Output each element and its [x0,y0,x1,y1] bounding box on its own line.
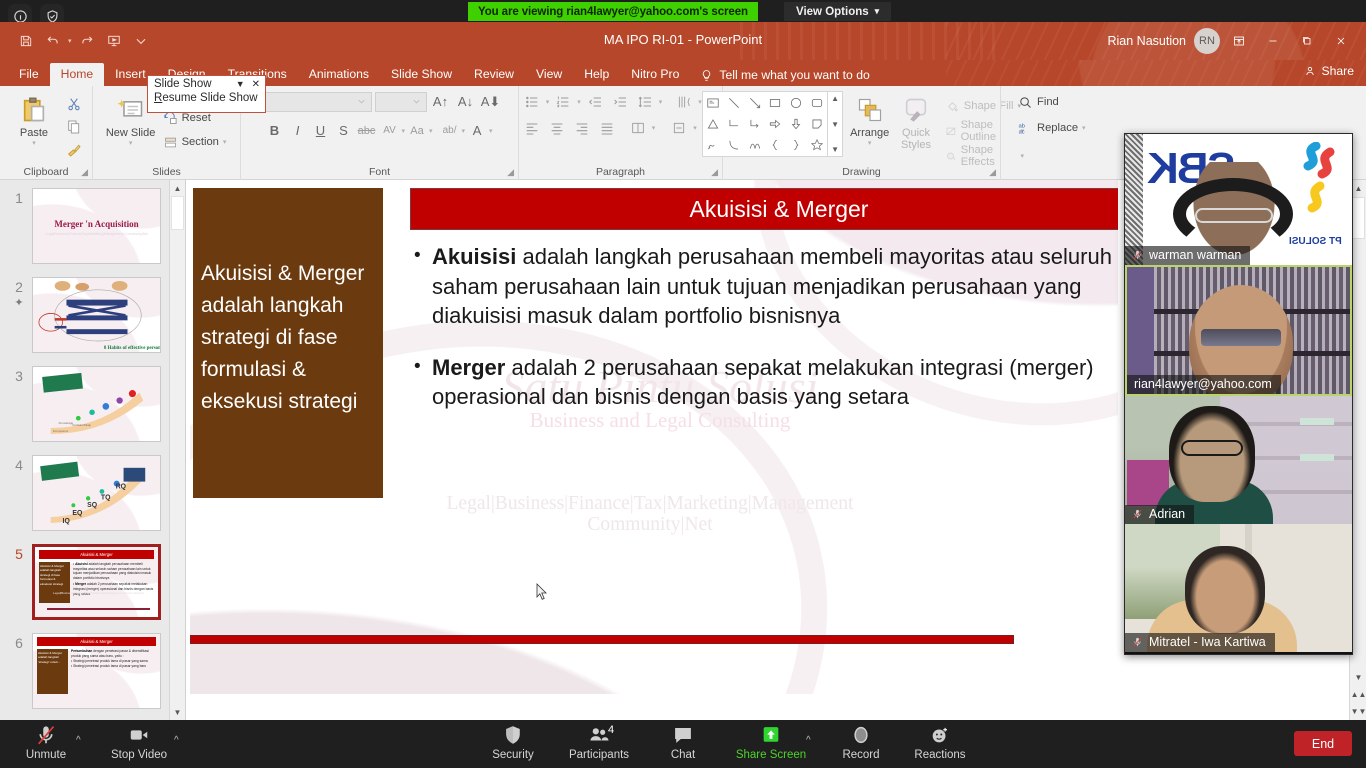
slide-footer-watermark-line1: Legal|Business|Finance|Tax|Marketing|Man… [250,493,1050,515]
shape-elbow-connector-icon[interactable] [724,113,745,134]
shape-rect-icon[interactable] [765,92,786,113]
new-slide-caret[interactable]: ▾ [129,139,133,147]
shape-triangle-icon[interactable] [703,113,724,134]
tell-me-box[interactable]: Tell me what you want to do [690,64,879,86]
section-button[interactable]: Section ▾ [160,131,230,153]
video-icon [128,723,150,747]
participants-count: 4 [608,724,614,736]
character-spacing-button[interactable]: AV [379,120,401,141]
scrollbar-bottom-group[interactable]: ▼ ▲▲ ▼▼ [1350,669,1366,720]
numbering-button[interactable] [552,91,574,113]
svg-text:8 Habits of effective person: 8 Habits of effective person [104,346,160,351]
increase-indent-button[interactable] [609,91,631,113]
cut-icon[interactable] [63,93,85,115]
powerpoint-title-bar: ▾ MA IPO RI-01 - PowerPoint Rian Nasutio… [0,22,1366,60]
mic-off-icon [1132,635,1143,649]
mic-off-icon [1132,248,1143,262]
group-label-slides: Slides [93,166,240,178]
thumb6-b2: Strategi penetrasi produk lama di pasar … [73,664,146,668]
paragraph-dialog-launcher[interactable]: ◢ [711,167,718,178]
scroll-down-icon[interactable]: ▼ [170,704,185,720]
ribbon-group-clipboard: Paste ▾ Clipboa [0,86,92,180]
character-spacing-caret[interactable]: ▾ [402,127,406,135]
thumb5-sidetext: Akuisisi & Merger adalah langkah strateg… [40,564,68,586]
mouse-cursor [536,583,548,601]
svg-text:Kompetensi: Kompetensi [53,429,69,433]
ribbon-tab-nitro-pro[interactable]: Nitro Pro [620,63,690,86]
chevron-down-icon [411,96,422,107]
ribbon-group-font: A↑ A↓ A⬇ B I U S abc AV ▾ Aa ▾ ab/ [240,86,518,180]
thumb1-subtitle: Legal|Business|Finance|Tax|Marketing|Man… [33,232,160,236]
ribbon-tab-home[interactable]: Home [50,63,105,86]
section-icon [163,135,178,150]
shape-effects-icon [945,149,957,164]
shapes-gallery[interactable] [702,91,828,157]
font-color-button[interactable]: A [466,120,488,141]
arrange-label: Arrange [850,127,889,139]
svg-text:IQ: IQ [63,518,71,525]
slide-body-bullets[interactable]: Akuisisi adalah langkah perusahaan membe… [410,242,1118,434]
change-case-caret[interactable]: ▾ [429,127,433,135]
thumbnail-row[interactable]: 6 Akuisisi & Merger Akuisisi & Merger ad… [0,633,185,709]
close-icon[interactable] [1326,28,1356,54]
video-tile-adrian[interactable]: Adrian [1125,396,1352,524]
ribbon-group-editing: Find abac Replace ▾ [1000,86,1110,180]
slide-show-popup-toolbar[interactable]: Slide Show ▼ ✕ Resume Slide Show [147,75,266,113]
shape-elbow-arrow-icon[interactable] [744,113,765,134]
shape-curve-icon[interactable] [724,135,745,156]
svg-text:ac: ac [1019,129,1025,135]
svg-text:RQ: RQ [116,483,127,490]
logo-subtext: PT SOLUSI [1289,236,1342,247]
columns-caret[interactable]: ▾ [652,124,656,132]
shape-down-arrow-icon[interactable] [786,113,807,134]
share-banner-text: You are viewing rian4lawyer@yahoo.com's … [478,6,748,18]
paste-icon [20,93,48,127]
justify-button[interactable] [596,117,618,139]
thumb5-b1-bold: Akuisisi [75,562,88,566]
slide-bullet-2-bold: Merger [432,355,505,380]
chat-button[interactable]: Chat [644,723,722,761]
ribbon-group-drawing: ▲ ▼ ▼ Arrange ▾ [722,86,1000,180]
thumb5-b2-bold: Merger [75,582,86,586]
security-label: Security [492,749,534,761]
unmute-label: Unmute [26,749,66,761]
slide-bullet-1-rest: adalah langkah perusahaan membeli mayori… [432,244,1112,328]
svg-text:Knowledge: Knowledge [59,421,74,425]
bullets-caret[interactable]: ▾ [546,98,550,106]
ribbon-tab-help[interactable]: Help [573,63,620,86]
bullets-button[interactable] [521,91,543,113]
group-label-font: Font [241,166,518,178]
reset-label: Reset [182,112,211,124]
underline-button[interactable]: U [310,120,332,141]
svg-text:SQ: SQ [87,502,98,509]
align-right-button[interactable] [571,117,593,139]
thumbnail-row[interactable]: 4 IQ EQ SQ [0,455,185,531]
next-slide-icon[interactable]: ▼▼ [1350,703,1366,720]
view-options-button[interactable]: View Options ▾ [784,2,891,21]
participants-icon [588,723,610,747]
thumbnail-number: 6 [6,633,32,651]
replace-caret[interactable]: ▾ [1082,124,1086,132]
find-label: Find [1037,96,1059,108]
align-left-button[interactable] [521,117,543,139]
slide-show-popup-title: Slide Show [154,78,212,90]
ribbon-tab-animations[interactable]: Animations [298,63,380,86]
slide-bullet-1: Akuisisi adalah langkah perusahaan membe… [410,242,1118,331]
shape-right-arrow-icon[interactable] [765,113,786,134]
tell-me-label: Tell me what you want to do [719,68,869,82]
view-options-label: View Options [796,6,869,18]
ribbon-tab-view[interactable]: View [525,63,573,86]
video-thumbnail-strip[interactable]: SBK PT SOLUSI warman warman [1124,133,1353,655]
ribbon-tab-review[interactable]: Review [463,63,525,86]
font-color-caret[interactable]: ▾ [489,127,493,135]
chat-label: Chat [671,749,695,761]
slide-footer-watermark-line2: Community|Net [250,514,1050,536]
slide-bullet-1-bold: Akuisisi [432,244,516,269]
account-name: Rian Nasution [1107,34,1186,48]
thumbnail-pane-scrollbar[interactable]: ▲ ▼ [169,180,185,720]
slide-side-text: Akuisisi & Merger adalah langkah strateg… [193,188,383,418]
slide-show-popup-close-icon[interactable]: ✕ [252,79,260,90]
participants-label: Participants [569,749,629,761]
slide-thumbnail-1[interactable]: Merger 'n Acquisition Legal|Business|Fin… [32,188,161,264]
slide-title-text: Akuisisi & Merger [690,196,869,223]
svg-text:TQ: TQ [101,494,111,501]
clipboard-dialog-launcher[interactable]: ◢ [81,167,88,178]
video-name-badge: Adrian [1125,505,1194,524]
strikethrough-button[interactable]: abc [356,120,378,141]
shape-line-icon[interactable] [724,92,745,113]
video-name-text: warman warman [1149,248,1241,262]
animation-star-icon: ✦ [6,295,32,311]
chevron-down-icon [356,96,367,107]
chevron-down-icon: ▾ [875,6,880,17]
drawing-dialog-launcher[interactable]: ◢ [989,167,996,178]
zoom-bottom-toolbar: Unmute ^ Stop Video ^ Security 4 Partici… [0,720,1366,768]
mic-off-icon [1132,507,1143,521]
italic-button[interactable]: I [287,120,309,141]
video-name-badge: Mitratel - Iwa Kartiwa [1125,633,1275,652]
thumb6-b1: Strategi penetrasi produk lama di pasar … [73,659,148,663]
shape-fill-icon [945,99,960,114]
paste-button[interactable]: Paste ▾ [7,91,61,147]
font-size-combo[interactable] [375,92,427,112]
slide-show-popup-dropdown-icon[interactable]: ▼ [236,79,245,89]
screen-share-banner: You are viewing rian4lawyer@yahoo.com's … [468,2,758,21]
scroll-up-icon[interactable]: ▲ [170,180,185,196]
increase-font-size-button[interactable]: A↑ [430,91,452,112]
svg-text:ab: ab [1019,123,1025,129]
new-slide-label: New Slide [106,127,156,139]
thumb2-diagram: 8 Habits of effective person [33,278,160,353]
thumb6-sidetext: Akuisisi & Merger adalah langkah 'strate… [38,651,66,664]
share-options-caret-icon[interactable]: ^ [806,735,811,746]
end-label: End [1312,737,1334,751]
resume-slide-show-item[interactable]: Resume Slide Show [148,91,265,105]
share-screen-label: Share Screen [736,749,806,761]
scroll-down-icon[interactable]: ▼ [831,120,839,129]
change-case-button[interactable]: Aa [406,120,428,141]
ribbon-group-paragraph: ▾ ▾ ▾ ▾ [518,86,722,180]
thumbnail-number: 3 [6,366,32,384]
thumbnail-row[interactable]: 3 Perilaku/Sikap Kompetensi [0,366,185,442]
ribbon-tab-slide-show[interactable]: Slide Show [380,63,463,86]
shape-outline-icon [945,124,957,139]
video-tile-rian4lawyer[interactable]: rian4lawyer@yahoo.com [1125,265,1352,396]
bold-button[interactable]: B [264,120,286,141]
columns-button[interactable] [627,117,649,139]
thumbnail-number: 4 [6,455,32,473]
thumbnail-row[interactable]: 5 Akuisisi & Merger Akuisisi & Merger ad… [0,544,185,620]
shape-scribble-icon[interactable] [703,135,724,156]
zoom-top-bar: You are viewing rian4lawyer@yahoo.com's … [0,0,1366,22]
video-name-badge: warman warman [1125,246,1250,265]
video-name-text: Adrian [1149,507,1185,521]
text-highlight-button[interactable]: ab/ [439,120,461,141]
paste-label: Paste [20,127,48,139]
thumb5-watermark: Legal|Business|Finance|Tax|Marketing|Man… [45,591,152,595]
line-spacing-caret[interactable]: ▾ [659,98,663,106]
shape-rounded-rect-icon[interactable] [806,92,827,113]
paste-dropdown-caret[interactable]: ▾ [32,139,36,147]
decrease-indent-button[interactable] [584,91,606,113]
shape-arc-icon[interactable] [744,135,765,156]
arrange-caret[interactable]: ▾ [868,139,872,147]
align-text-button[interactable] [668,117,690,139]
participants-button[interactable]: 4 Participants [560,723,638,761]
new-slide-icon [117,93,145,127]
record-label: Record [842,749,879,761]
slide-bullet-2: Merger adalah 2 perusahaan sepakat melak… [410,353,1118,412]
video-options-caret-icon[interactable]: ^ [174,735,179,746]
replace-button[interactable]: abac Replace ▾ [1015,117,1089,139]
title-bar-right: Rian Nasution RN [1107,28,1356,54]
more-shapes-icon[interactable]: ▼ [831,145,839,154]
group-label-paragraph: Paragraph [519,166,722,178]
text-shadow-button[interactable]: S [333,120,355,141]
scroll-down-icon[interactable]: ▼ [1350,669,1366,686]
thumbnail-number: 5 [6,544,32,562]
record-button[interactable]: Record [822,723,900,761]
replace-label: Replace [1037,122,1078,134]
arrange-icon [856,93,884,127]
font-dialog-launcher[interactable]: ◢ [507,167,514,178]
quick-styles-icon [902,93,930,127]
thumbnail-number-text: 2 [15,279,23,295]
record-icon [850,723,872,747]
share-screen-button[interactable]: Share Screen [732,723,810,761]
scrollbar-thumb[interactable] [171,196,184,230]
line-spacing-button[interactable] [634,91,656,113]
copy-icon[interactable] [63,116,85,138]
slide-thumbnail-4[interactable]: IQ EQ SQ TQ RQ [32,455,161,531]
scrollbar-thumb[interactable] [1351,197,1365,239]
thumb3-chart: Perilaku/Sikap Kompetensi Knowledge [33,367,160,442]
thumb6-title: Akuisisi & Merger [37,637,156,646]
stop-video-button[interactable]: Stop Video [100,723,178,761]
slide-thumbnail-5[interactable]: Akuisisi & Merger Akuisisi & Merger adal… [32,544,161,620]
format-painter-icon[interactable] [63,139,85,161]
video-tile-mitratel[interactable]: Mitratel - Iwa Kartiwa [1125,524,1352,652]
reactions-button[interactable]: Reactions [901,723,979,761]
search-icon [1018,95,1033,110]
security-button[interactable]: Security [474,723,552,761]
quick-styles-button[interactable]: Quick Styles [896,91,936,151]
thumb4-chart: IQ EQ SQ TQ RQ [33,456,160,531]
video-name-text: rian4lawyer@yahoo.com [1134,377,1272,391]
shape-flowchart-icon[interactable] [806,113,827,134]
slide-thumbnail-6[interactable]: Akuisisi & Merger Akuisisi & Merger adal… [32,633,161,709]
section-caret[interactable]: ▾ [223,138,227,146]
mic-off-icon [35,723,57,747]
video-name-text: Mitratel - Iwa Kartiwa [1149,635,1266,649]
slide-footer-rule [190,635,1014,644]
share-button[interactable]: Share [1304,64,1354,78]
clear-formatting-button[interactable]: A⬇ [480,91,502,112]
shield-icon [502,723,524,747]
stop-video-label: Stop Video [111,749,167,761]
thumbnail-number: 1 [6,188,32,206]
reactions-label: Reactions [914,749,965,761]
arrange-button[interactable]: Arrange ▾ [849,91,890,147]
thumbnail-row[interactable]: 1 Merger 'n Acquisition Legal|Business|F… [0,188,185,264]
thumb6-b0-bold: Pertumbuhan [71,649,92,653]
thumb5-title: Akuisisi & Merger [39,550,154,559]
svg-text:EQ: EQ [72,510,83,517]
resume-slide-show-label: esume Slide Show [162,92,257,104]
thumb1-title: Merger 'n Acquisition [33,219,160,229]
screen-root: You are viewing rian4lawyer@yahoo.com's … [0,0,1366,768]
video-name-badge: rian4lawyer@yahoo.com [1127,375,1281,394]
slide-side-panel[interactable]: Akuisisi & Merger adalah langkah strateg… [193,188,383,498]
text-direction-button[interactable] [673,91,695,113]
shape-arrow-icon[interactable] [744,92,765,113]
slide-bullet-2-rest: adalah 2 perusahaan sepakat melakukan in… [432,355,1094,410]
lightbulb-icon [700,69,713,82]
shape-star-icon[interactable] [806,135,827,156]
avatar[interactable]: RN [1194,28,1220,54]
ribbon-display-options-icon[interactable] [1224,28,1254,54]
minimize-icon[interactable] [1258,28,1288,54]
share-screen-icon [760,723,782,747]
highlight-caret[interactable]: ▾ [462,127,466,135]
slide-thumbnail-2[interactable]: 8 Habits of effective person [32,277,161,353]
current-slide[interactable]: Satu Pintu Solusi Business and Legal Con… [190,180,1118,694]
restore-icon[interactable] [1292,28,1322,54]
font-name-combo[interactable] [264,92,372,112]
replace-icon: abac [1018,121,1033,136]
group-label-clipboard: Clipboard [0,166,92,178]
svg-text:Perilaku/Sikap: Perilaku/Sikap [72,423,91,427]
align-center-button[interactable] [546,117,568,139]
person-icon [1304,65,1316,77]
decrease-font-size-button[interactable]: A↓ [455,91,477,112]
share-label: Share [1321,64,1354,78]
chat-icon [672,723,694,747]
unmute-button[interactable]: Unmute [7,723,85,761]
thumbnail-row[interactable]: 2 ✦ [0,277,185,353]
thumbnail-number: 2 ✦ [6,277,32,311]
reactions-icon [929,723,951,747]
audio-options-caret-icon[interactable]: ^ [76,735,81,746]
find-button[interactable]: Find [1015,91,1062,113]
previous-slide-icon[interactable]: ▲▲ [1350,686,1366,703]
video-tile-warman[interactable]: SBK PT SOLUSI warman warman [1125,134,1352,265]
shape-textbox-icon[interactable] [703,92,724,113]
shape-left-brace-icon[interactable] [765,135,786,156]
shape-oval-icon[interactable] [786,92,807,113]
shape-right-brace-icon[interactable] [786,135,807,156]
thumb5-footer-rule [47,608,150,611]
shapes-gallery-scrollbar[interactable]: ▲ ▼ ▼ [828,91,843,157]
slide-title-banner[interactable]: Akuisisi & Merger [410,188,1118,230]
thumb6-body: Pertumbuhan dengan penetrasi pasar & div… [71,649,156,668]
section-label: Section [182,136,219,148]
slide-thumbnail-3[interactable]: Perilaku/Sikap Kompetensi Knowledge [32,366,161,442]
numbering-caret[interactable]: ▾ [577,98,581,106]
quick-styles-label: Quick Styles [896,127,936,151]
scroll-up-icon[interactable]: ▲ [831,94,839,103]
ribbon-tab-file[interactable]: File [8,63,50,86]
end-meeting-button[interactable]: End [1294,731,1352,756]
group-label-drawing: Drawing [723,166,1000,178]
slide-thumbnail-pane[interactable]: 1 Merger 'n Acquisition Legal|Business|F… [0,180,186,720]
